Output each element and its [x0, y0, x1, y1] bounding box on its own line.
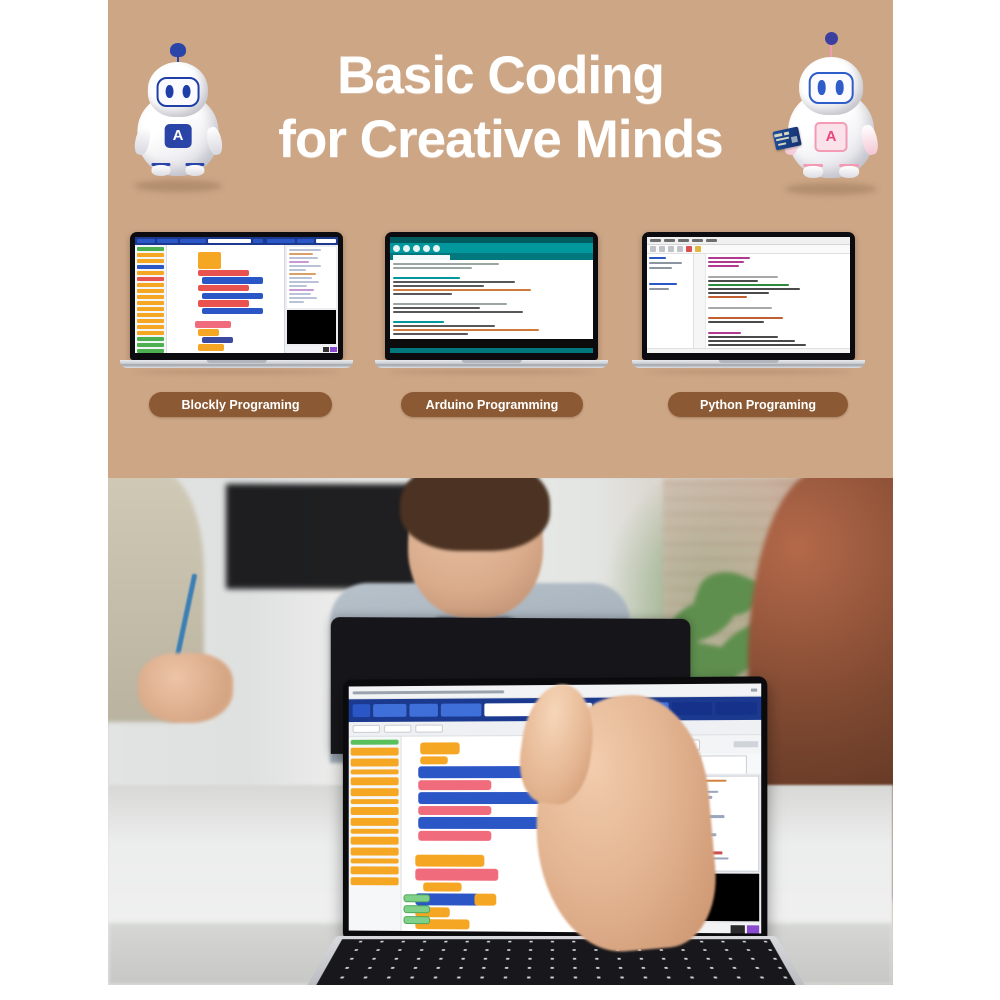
background-dark-panel	[226, 484, 416, 589]
arduino-sketch-tabs[interactable]	[390, 253, 593, 260]
arduino-console	[390, 339, 593, 348]
pink-robot-mascot: A	[776, 38, 886, 193]
laptop-arduino[interactable]	[385, 232, 598, 374]
terminal-output	[287, 310, 336, 344]
robot-shadow	[134, 180, 221, 192]
label-blockly-programing[interactable]: Blockly Programing	[149, 392, 332, 417]
laptop-lid	[130, 232, 343, 360]
blockly-green-blocks[interactable]	[403, 894, 430, 927]
keyboard-keys	[315, 939, 796, 985]
laptop-lid	[642, 232, 855, 360]
robot-leg-left	[151, 165, 170, 176]
arduino-ide-screen	[390, 237, 593, 353]
robot-eye-left	[818, 80, 826, 95]
robot-leg-right	[185, 165, 204, 176]
robot-eye-left	[166, 85, 174, 99]
python-code-editor[interactable]	[694, 254, 850, 348]
student-hair	[400, 478, 550, 551]
label-python-programing[interactable]: Python Programing	[668, 392, 848, 417]
blockly-block-palette[interactable]	[349, 737, 402, 933]
laptop-base	[632, 360, 864, 368]
robot-head	[799, 57, 863, 116]
classroom-photo	[108, 478, 893, 985]
panel-footer	[285, 346, 338, 353]
laptop-keyboard	[304, 936, 808, 985]
laptop-base	[120, 360, 352, 368]
robot-face	[809, 72, 854, 104]
robot-arm-right	[204, 126, 223, 156]
arduino-toolbar[interactable]	[390, 243, 593, 253]
robot-badge: A	[164, 124, 192, 148]
arduino-status-bar	[390, 348, 593, 353]
robot-antenna-icon	[829, 38, 833, 58]
robot-shadow	[785, 183, 877, 195]
robot-leg-left	[803, 166, 824, 178]
robot-badge: A	[814, 122, 847, 152]
arduino-code-area[interactable]	[390, 260, 593, 339]
python-status-bar	[647, 348, 850, 353]
robot-arm-left	[132, 126, 151, 156]
laptop-showcase-row	[108, 232, 893, 382]
line-number-gutter	[694, 254, 706, 348]
product-feature-page: A Basic Coding for Creative Minds	[0, 0, 1000, 1000]
laptop-lid	[385, 232, 598, 360]
blue-robot-mascot: A	[126, 45, 230, 190]
robot-arm-right	[859, 124, 879, 156]
blockly-block-palette[interactable]	[135, 245, 167, 353]
robot-face	[157, 77, 200, 107]
laptop-blockly[interactable]	[130, 232, 343, 374]
label-arduino-programming[interactable]: Arduino Programming	[401, 392, 583, 417]
python-menu-bar[interactable]	[647, 237, 850, 245]
writing-hand	[138, 653, 233, 723]
blockly-code-panel	[284, 245, 338, 353]
robot-eye-right	[183, 85, 191, 99]
blockly-editor-screen	[135, 237, 338, 353]
laptop-label-row: Blockly Programing Arduino Programming P…	[108, 392, 893, 418]
robot-head	[148, 62, 208, 117]
blockly-workspace[interactable]	[167, 245, 284, 353]
robot-leg-right	[839, 166, 860, 178]
laptop-shadow	[134, 370, 338, 374]
blockly-toolbar	[135, 237, 338, 245]
laptop-base	[375, 360, 607, 368]
python-ide-screen	[647, 237, 850, 353]
python-toolbar[interactable]	[647, 245, 850, 254]
python-file-explorer[interactable]	[647, 254, 694, 348]
laptop-shadow	[646, 370, 850, 374]
laptop-python[interactable]	[642, 232, 855, 374]
laptop-shadow	[389, 370, 593, 374]
robot-eye-right	[836, 80, 844, 95]
generated-code-view	[287, 247, 336, 307]
